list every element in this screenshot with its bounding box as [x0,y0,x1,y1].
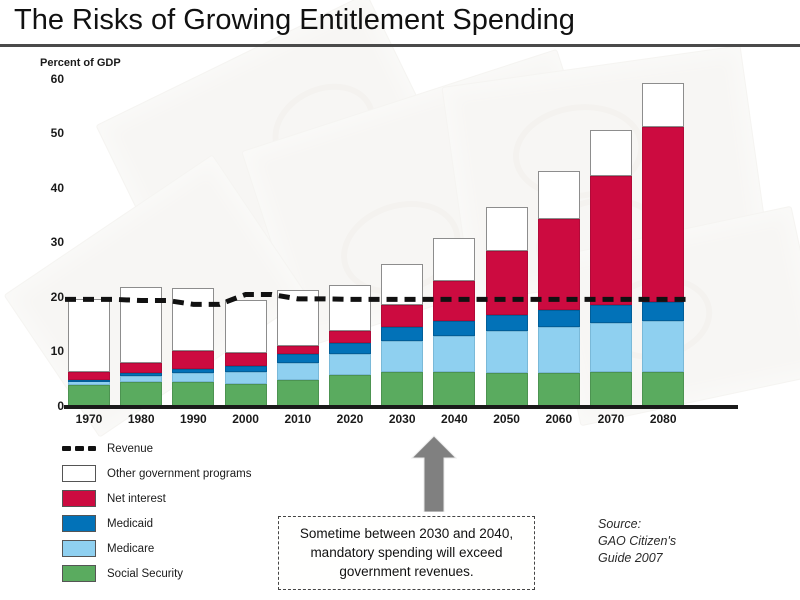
annotation-line-1: Sometime between 2030 and 2040, [285,524,528,543]
swatch-icon [62,515,96,532]
legend-label: Net interest [107,493,166,505]
source-line-3: Guide 2007 [598,550,676,567]
legend-item-social-security[interactable]: Social Security [62,562,251,585]
legend-item-net-interest[interactable]: Net interest [62,487,251,510]
source-line-1: Source: [598,516,676,533]
revenue-line-path [65,294,687,304]
legend-item-revenue[interactable]: Revenue [62,437,251,460]
legend-label: Medicare [107,543,154,555]
slide-canvas: The Risks of Growing Entitlement Spendin… [0,0,800,600]
annotation-line-2: mandatory spending will exceed [285,543,528,562]
source-line-2: GAO Citizen's [598,533,676,550]
legend-label: Social Security [107,568,183,580]
swatch-icon [62,565,96,582]
source-note: Source: GAO Citizen's Guide 2007 [598,516,676,567]
legend-item-other-government-programs[interactable]: Other government programs [62,462,251,485]
swatch-icon [62,465,96,482]
swatch-icon [62,540,96,557]
dashed-line-icon [62,440,96,457]
up-arrow-icon [409,434,459,512]
legend-item-medicare[interactable]: Medicare [62,537,251,560]
swatch-icon [62,490,96,507]
annotation-callout: Sometime between 2030 and 2040, mandator… [278,516,535,590]
legend-label: Other government programs [107,468,251,480]
annotation-line-3: government revenues. [285,562,528,581]
legend-item-medicaid[interactable]: Medicaid [62,512,251,535]
legend-label: Medicaid [107,518,153,530]
legend-label: Revenue [107,443,153,455]
chart-legend: Revenue Other government programs Net in… [62,437,251,587]
